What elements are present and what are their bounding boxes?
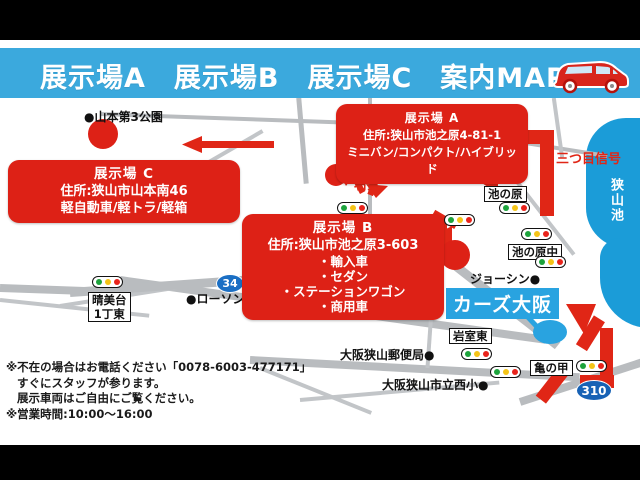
balloon-b-item-2: ・セダン — [251, 269, 435, 284]
traffic-signal-joshin — [535, 256, 566, 268]
poi-marker: ● — [478, 378, 488, 392]
page-title: 展示場A 展示場B 展示場C 案内MAP — [40, 56, 567, 95]
balloon-b-item-4: ・商用車 — [251, 299, 435, 314]
poi-lawson: ●ローソン — [186, 290, 245, 307]
balloon-b-title: 展示場 B — [251, 220, 435, 237]
balloon-b-address: 住所:狭山市池之原3-603 — [251, 237, 435, 254]
marker-dot-b — [440, 240, 470, 270]
intersection-harumidai: 晴美台 1丁東 — [88, 292, 131, 322]
traffic-signal-ikenohara — [499, 202, 530, 214]
poi-joshin: ジョーシン● — [470, 270, 540, 287]
note-line-2: すぐにスタッフが参ります。 — [6, 376, 306, 392]
balloon-c-address: 住所:狭山市山本南46 — [17, 183, 231, 200]
traffic-signal-harumidai — [92, 276, 123, 288]
intersection-ikenohara: 池の原 — [484, 186, 527, 202]
shop-location-dot — [533, 320, 567, 344]
shop-name-label: カーズ大阪 — [446, 288, 559, 319]
balloon-b-item-3: ・ステーションワゴン — [251, 284, 435, 299]
traffic-signal-a — [337, 202, 368, 214]
balloon-a-categories: ミニバン/コンパクト/ハイブリッド — [345, 144, 519, 178]
route-shield-310: 310 — [576, 380, 612, 401]
traffic-signal-kamenoko — [576, 360, 607, 372]
route-shield-34: 34 — [216, 274, 244, 293]
note-line-3: 展示車両はご自由にご覧ください。 — [6, 391, 306, 407]
balloon-b-item-1: ・輸入車 — [251, 254, 435, 269]
note-line-1: ※不在の場合はお電話ください「0078-6003-477171」 — [6, 360, 306, 376]
poi-nishi-elementary: 大阪狭山市立西小● — [382, 376, 489, 393]
balloon-c-categories: 軽自動車/軽トラ/軽箱 — [17, 200, 231, 217]
sayama-pond-label: 狭山池 — [608, 178, 623, 223]
balloon-a-address: 住所:狭山市池之原4-81-1 — [345, 127, 519, 144]
letterbox-top — [0, 0, 640, 40]
poi-yamamoto-park: ●山本第3公園 — [84, 108, 163, 125]
footer-notes: ※不在の場合はお電話ください「0078-6003-477171」 すぐにスタッフ… — [6, 360, 306, 422]
callout-mitsumeshingo: 三つ目信号 — [556, 148, 621, 167]
balloon-c-title: 展示場 C — [17, 166, 231, 183]
intersection-harumidai-line1: 晴美台 — [92, 293, 127, 307]
poi-marker: ● — [84, 110, 94, 124]
traffic-signal-post-office — [461, 348, 492, 360]
intersection-harumidai-line2: 1丁東 — [92, 307, 127, 321]
poi-marker: ● — [424, 348, 434, 362]
traffic-signal-ikenoharanaka — [521, 228, 552, 240]
poi-marker: ● — [186, 292, 196, 306]
sayama-pond-lower — [600, 238, 640, 328]
note-line-4: ※営業時間:10:00～16:00 — [6, 407, 306, 423]
balloon-showroom-a: 展示場 A 住所:狭山市池之原4-81-1 ミニバン/コンパクト/ハイブリッド — [336, 104, 528, 184]
poi-post-office: 大阪狭山郵便局● — [340, 346, 435, 363]
balloon-showroom-c: 展示場 C 住所:狭山市山本南46 軽自動車/軽トラ/軽箱 — [8, 160, 240, 223]
intersection-kamenoko: 亀の甲 — [530, 360, 573, 376]
balloon-showroom-b: 展示場 B 住所:狭山市池之原3-603 ・輸入車 ・セダン ・ステーションワゴ… — [242, 214, 444, 320]
traffic-signal-west — [444, 214, 475, 226]
intersection-iwamurohigashi: 岩室東 — [449, 328, 492, 344]
road-vertical-right — [296, 98, 308, 184]
letterbox-bottom — [0, 445, 640, 480]
map-page: 展示場A 展示場B 展示場C 案内MAP 狭山池 — [0, 0, 640, 480]
balloon-a-title: 展示場 A — [345, 110, 519, 127]
poi-marker: ● — [530, 272, 540, 286]
red-car-icon — [548, 54, 632, 94]
traffic-signal-mid-bottom — [490, 366, 521, 378]
